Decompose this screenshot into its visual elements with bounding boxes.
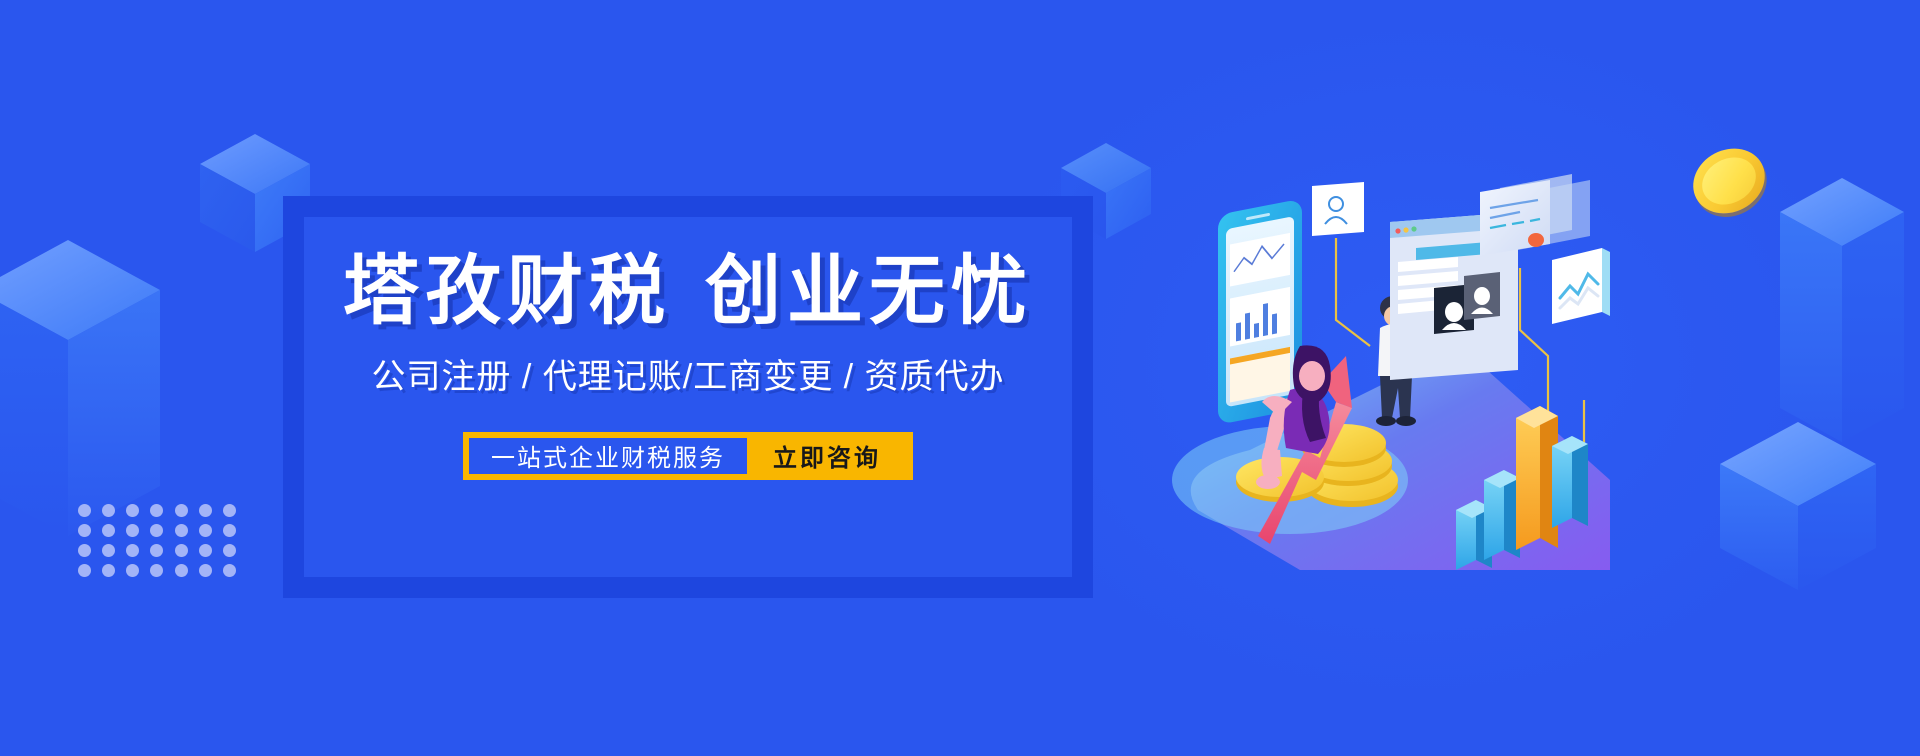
smartphone-chart-icon: [1218, 199, 1302, 425]
headline-part-1: 塔孜财税: [343, 249, 671, 334]
service-list-text: 公司注册 / 代理记账/工商变更 / 资质代办: [371, 357, 1004, 398]
cta-tagline: 一站式企业财税服务: [469, 438, 747, 474]
dot-grid-pattern: [72, 500, 242, 580]
headline-frame: 塔孜财税创业无忧 公司注册 / 代理记账/工商变更 / 资质代办 一站式企业财税…: [283, 196, 1093, 598]
iso-cube-icon: [1718, 420, 1878, 592]
promo-banner: 塔孜财税创业无忧 公司注册 / 代理记账/工商变更 / 资质代办 一站式企业财税…: [0, 0, 1920, 756]
page-title: 塔孜财税创业无忧: [343, 251, 1033, 333]
line-chart-card: [1552, 248, 1610, 324]
cta-group[interactable]: 一站式企业财税服务 立即咨询: [463, 432, 913, 480]
headline-part-2: 创业无忧: [705, 249, 1033, 334]
contact-card-icon: [1312, 182, 1364, 236]
isometric-business-illustration: [1140, 150, 1610, 570]
credit-card-icon: [1480, 174, 1590, 256]
iso-prism-icon: [0, 238, 162, 538]
gold-coin-icon: [1682, 136, 1776, 225]
iso-prism-icon: [1778, 176, 1906, 444]
consult-now-button[interactable]: 立即咨询: [747, 438, 907, 474]
